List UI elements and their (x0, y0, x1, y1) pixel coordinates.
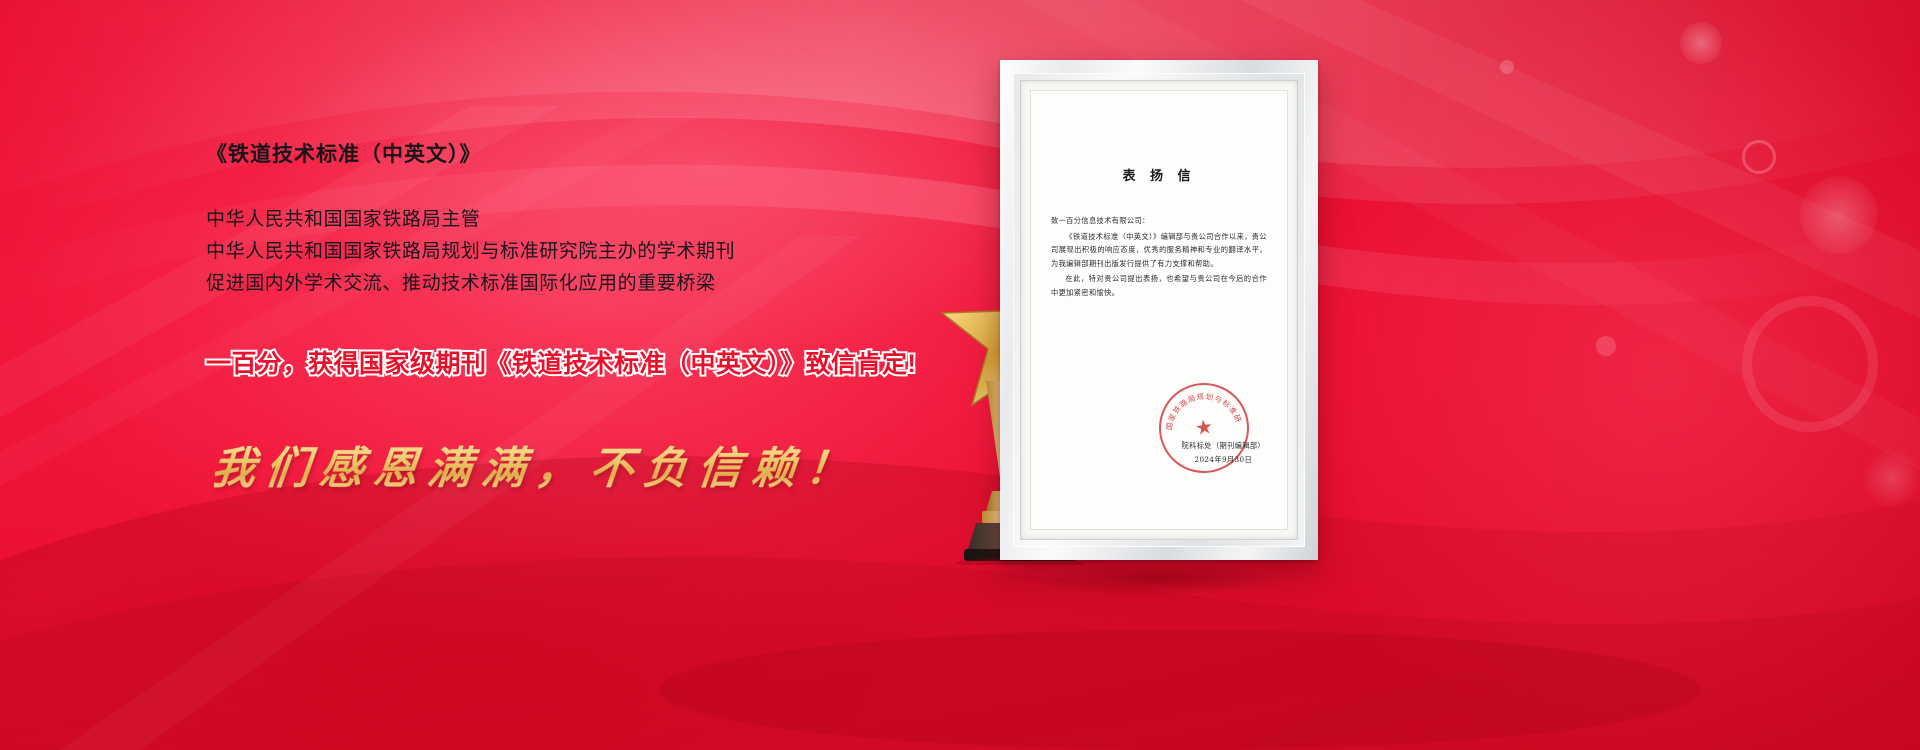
calligraphy-slogan: 我们感恩满满，不负信赖！ (209, 432, 970, 496)
journal-title: 《铁道技术标准（中英文）》 (206, 140, 966, 170)
body-line-2: 中华人民共和国国家铁路局规划与标准研究院主办的学术期刊 (206, 236, 966, 268)
certificate-salutation: 致一百分信息技术有限公司： (1051, 214, 1267, 228)
certificate-title: 表 扬 信 (1051, 165, 1267, 184)
certificate-signature-org: 院科标处（期刊编辑部） (1182, 439, 1265, 453)
bokeh-dot-2 (1800, 176, 1878, 254)
body-line-1: 中华人民共和国国家铁路局主管 (206, 204, 966, 236)
bokeh-dot-4 (1862, 448, 1920, 508)
certificate-paper: 表 扬 信 致一百分信息技术有限公司： 《铁道技术标准（中英文）》编辑部与贵公司… (1030, 90, 1288, 530)
bokeh-dot-3 (1596, 336, 1616, 356)
certificate-signature: 院科标处（期刊编辑部） 2024年9月30日 (1182, 439, 1265, 467)
body-line-3: 促进国内外学术交流、推动技术标准国际化应用的重要桥梁 (206, 268, 966, 300)
banner-copy: 《铁道技术标准（中英文）》 中华人民共和国国家铁路局主管 中华人民共和国国家铁路… (206, 140, 966, 496)
certificate-shadow (988, 556, 1328, 602)
bokeh-ring-1 (1742, 140, 1776, 174)
certificate-frame-inner: 表 扬 信 致一百分信息技术有限公司： 《铁道技术标准（中英文）》编辑部与贵公司… (1013, 73, 1305, 547)
certificate-frame: 表 扬 信 致一百分信息技术有限公司： 《铁道技术标准（中英文）》编辑部与贵公司… (1000, 60, 1318, 560)
certificate-mat: 表 扬 信 致一百分信息技术有限公司： 《铁道技术标准（中英文）》编辑部与贵公司… (1020, 80, 1298, 540)
banner-stage: 《铁道技术标准（中英文）》 中华人民共和国国家铁路局主管 中华人民共和国国家铁路… (0, 0, 1920, 750)
bokeh-dot-5 (1500, 60, 1514, 74)
seal-star-icon: ★ (1194, 417, 1215, 439)
headline: 一百分，获得国家级期刊《铁道技术标准（中英文）》致信肯定! (206, 344, 966, 380)
certificate-paragraph-2: 在此，特对贵公司提出表扬，也希望与贵公司在今后的合作中更加紧密和愉快。 (1051, 272, 1267, 299)
bokeh-dot-1 (1680, 22, 1722, 64)
bokeh-ring-2 (1742, 296, 1878, 432)
certificate-signature-date: 2024年9月30日 (1182, 453, 1265, 467)
certificate-paragraph-1: 《铁道技术标准（中英文）》编辑部与贵公司合作以来，贵公司展现出积极的响应态度，优… (1051, 230, 1267, 271)
